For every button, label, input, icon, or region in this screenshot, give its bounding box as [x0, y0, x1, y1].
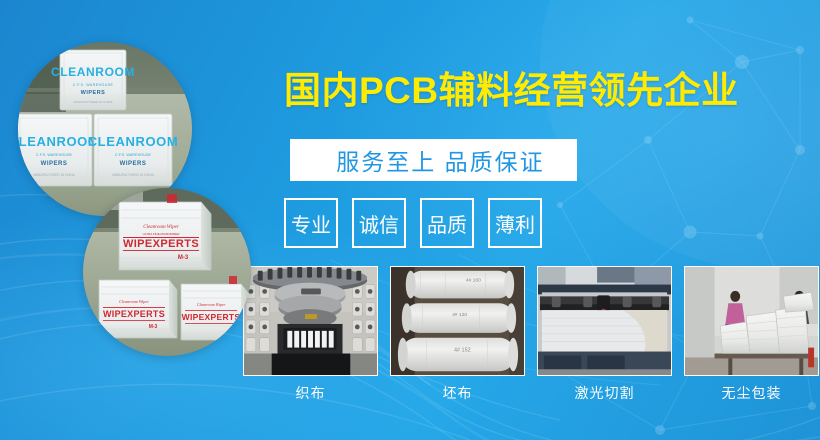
- feature-tag-integrity[interactable]: 诚信: [352, 198, 406, 248]
- thumbnail-laser-cutting[interactable]: [537, 266, 672, 376]
- subtitle-box: 服务至上 品质保证: [290, 139, 577, 181]
- feature-tag-row: 专业 诚信 品质 薄利: [284, 198, 542, 248]
- knitting-machine-illustration: [244, 267, 377, 375]
- promo-banner: CLEANROOM C.F.S. WAREHOUSE WIPERS MANUFA…: [0, 0, 820, 440]
- feature-tag-quality[interactable]: 品质: [420, 198, 474, 248]
- banner-content: 国内PCB辅料经营领先企业 服务至上 品质保证 专业 诚信 品质 薄利: [240, 0, 820, 440]
- process-caption-laser-cutting: 激光切割: [537, 383, 672, 403]
- process-thumbnail-strip: 织布: [243, 266, 819, 403]
- process-item-laser-cutting[interactable]: 激光切割: [537, 266, 672, 403]
- feature-tag-professional[interactable]: 专业: [284, 198, 338, 248]
- process-caption-greige-fabric: 坯布: [390, 383, 525, 403]
- thumbnail-weaving[interactable]: [243, 266, 378, 376]
- process-item-greige-fabric[interactable]: 4# 160 4# 120 4# 152: [390, 266, 525, 403]
- process-caption-weaving: 织布: [243, 383, 378, 403]
- thumbnail-cleanroom-packaging[interactable]: [684, 266, 819, 376]
- page-title: 国内PCB辅料经营领先企业: [284, 72, 804, 109]
- subtitle-text: 服务至上 品质保证: [336, 143, 544, 177]
- process-caption-cleanroom-packaging: 无尘包装: [684, 383, 819, 403]
- wipexperts-bundles-illustration: Cleanroom Wiper ULTRA FINE MICROFIBER WI…: [83, 188, 251, 356]
- product-photo-wipexperts-bundles: Cleanroom Wiper ULTRA FINE MICROFIBER WI…: [83, 188, 251, 356]
- cleanroom-packaging-illustration: [685, 267, 818, 375]
- process-item-cleanroom-packaging[interactable]: 无尘包装: [684, 266, 819, 403]
- fabric-rolls-illustration: 4# 160 4# 120 4# 152: [391, 267, 524, 375]
- process-item-weaving[interactable]: 织布: [243, 266, 378, 403]
- laser-cutting-machine-illustration: [538, 267, 671, 375]
- thumbnail-greige-fabric[interactable]: 4# 160 4# 120 4# 152: [390, 266, 525, 376]
- feature-tag-low-margin[interactable]: 薄利: [488, 198, 542, 248]
